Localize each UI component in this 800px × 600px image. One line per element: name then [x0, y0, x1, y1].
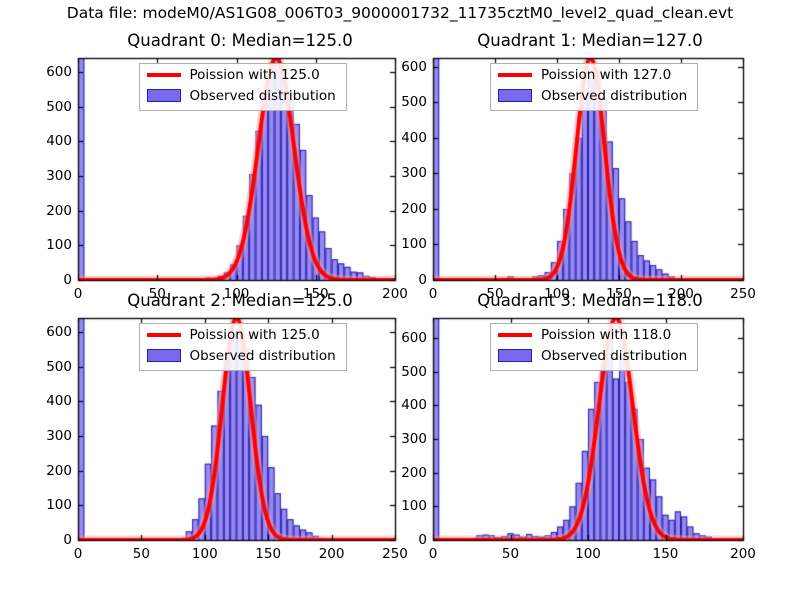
legend-label: Poission with 125.0: [190, 327, 320, 343]
xtick-label-quadrant-1-0: 0: [403, 286, 463, 302]
legend-quadrant-1[interactable]: Poission with 127.0Observed distribution: [490, 63, 698, 111]
subplot-title-quadrant-1: Quadrant 1: Median=127.0: [410, 31, 770, 50]
legend-entry-quadrant-3-0[interactable]: Poission with 118.0: [491, 324, 697, 345]
legend-line-icon: [147, 73, 181, 77]
ytick-label-quadrant-1-4: 400: [381, 130, 427, 146]
legend-patch-icon: [147, 349, 181, 362]
legend-line-swatch-icon: [146, 328, 182, 342]
legend-patch-swatch-icon: [497, 349, 533, 363]
ytick-label-quadrant-1-5: 500: [381, 94, 427, 110]
xtick-label-quadrant-0-3: 150: [286, 286, 346, 302]
xtick-label-quadrant-2-3: 150: [238, 546, 298, 562]
ytick-label-quadrant-2-0: 0: [26, 532, 72, 548]
legend-patch-icon: [498, 349, 532, 362]
legend-label: Observed distribution: [541, 88, 687, 104]
ytick-label-quadrant-1-6: 600: [381, 59, 427, 75]
ytick-label-quadrant-0-1: 100: [26, 237, 72, 253]
xtick-label-quadrant-3-1: 50: [481, 546, 541, 562]
legend-patch-swatch-icon: [497, 89, 533, 103]
ytick-label-quadrant-1-2: 200: [381, 201, 427, 217]
ytick-label-quadrant-3-0: 0: [381, 532, 427, 548]
ytick-label-quadrant-3-2: 200: [381, 465, 427, 481]
legend-patch-icon: [147, 89, 181, 102]
legend-patch-swatch-icon: [146, 349, 182, 363]
ytick-label-quadrant-0-0: 0: [26, 272, 72, 288]
xtick-label-quadrant-3-4: 200: [713, 546, 773, 562]
xtick-label-quadrant-3-0: 0: [403, 546, 463, 562]
legend-entry-quadrant-2-1[interactable]: Observed distribution: [140, 345, 346, 366]
ytick-label-quadrant-2-3: 300: [26, 428, 72, 444]
ytick-label-quadrant-3-3: 300: [381, 431, 427, 447]
legend-label: Observed distribution: [541, 348, 687, 364]
xtick-label-quadrant-1-3: 150: [589, 286, 649, 302]
ytick-label-quadrant-3-6: 600: [381, 330, 427, 346]
ytick-label-quadrant-3-5: 500: [381, 364, 427, 380]
ytick-label-quadrant-2-6: 600: [26, 324, 72, 340]
xtick-label-quadrant-0-1: 50: [127, 286, 187, 302]
legend-entry-quadrant-2-0[interactable]: Poission with 125.0: [140, 324, 346, 345]
ytick-label-quadrant-2-2: 200: [26, 463, 72, 479]
xtick-label-quadrant-1-2: 100: [527, 286, 587, 302]
subplot-title-quadrant-0: Quadrant 0: Median=125.0: [60, 31, 420, 50]
legend-line-swatch-icon: [497, 328, 533, 342]
ytick-label-quadrant-1-1: 100: [381, 236, 427, 252]
ytick-label-quadrant-2-5: 500: [26, 359, 72, 375]
ytick-label-quadrant-1-0: 0: [381, 272, 427, 288]
legend-quadrant-0[interactable]: Poission with 125.0Observed distribution: [139, 63, 347, 111]
legend-patch-icon: [498, 89, 532, 102]
legend-label: Poission with 127.0: [541, 67, 671, 83]
legend-label: Observed distribution: [190, 348, 336, 364]
xtick-label-quadrant-2-2: 100: [175, 546, 235, 562]
legend-label: Observed distribution: [190, 88, 336, 104]
ytick-label-quadrant-0-5: 500: [26, 99, 72, 115]
legend-line-swatch-icon: [497, 68, 533, 82]
legend-quadrant-3[interactable]: Poission with 118.0Observed distribution: [490, 323, 698, 371]
ytick-label-quadrant-1-3: 300: [381, 165, 427, 181]
xtick-label-quadrant-1-4: 200: [651, 286, 711, 302]
xtick-label-quadrant-0-0: 0: [48, 286, 108, 302]
ytick-label-quadrant-3-4: 400: [381, 397, 427, 413]
xtick-label-quadrant-2-0: 0: [48, 546, 108, 562]
xtick-label-quadrant-1-1: 50: [465, 286, 525, 302]
xtick-label-quadrant-3-3: 150: [636, 546, 696, 562]
figure-suptitle: Data file: modeM0/AS1G08_006T03_90000017…: [0, 4, 800, 22]
legend-entry-quadrant-0-1[interactable]: Observed distribution: [140, 85, 346, 106]
legend-entry-quadrant-3-1[interactable]: Observed distribution: [491, 345, 697, 366]
legend-entry-quadrant-0-0[interactable]: Poission with 125.0: [140, 64, 346, 85]
ytick-label-quadrant-2-4: 400: [26, 393, 72, 409]
xtick-label-quadrant-2-1: 50: [111, 546, 171, 562]
xtick-label-quadrant-0-2: 100: [207, 286, 267, 302]
legend-entry-quadrant-1-1[interactable]: Observed distribution: [491, 85, 697, 106]
legend-line-icon: [498, 73, 532, 77]
legend-label: Poission with 118.0: [541, 327, 671, 343]
legend-label: Poission with 125.0: [190, 67, 320, 83]
legend-quadrant-2[interactable]: Poission with 125.0Observed distribution: [139, 323, 347, 371]
legend-line-icon: [498, 333, 532, 337]
xtick-label-quadrant-3-2: 100: [558, 546, 618, 562]
ytick-label-quadrant-0-4: 400: [26, 133, 72, 149]
ytick-label-quadrant-0-3: 300: [26, 168, 72, 184]
ytick-label-quadrant-0-2: 200: [26, 203, 72, 219]
legend-entry-quadrant-1-0[interactable]: Poission with 127.0: [491, 64, 697, 85]
ytick-label-quadrant-3-1: 100: [381, 498, 427, 514]
legend-line-swatch-icon: [146, 68, 182, 82]
figure-canvas-container: Data file: modeM0/AS1G08_006T03_90000017…: [0, 0, 800, 600]
xtick-label-quadrant-2-4: 200: [302, 546, 362, 562]
ytick-label-quadrant-2-1: 100: [26, 497, 72, 513]
ytick-label-quadrant-0-6: 600: [26, 64, 72, 80]
legend-line-icon: [147, 333, 181, 337]
xtick-label-quadrant-1-5: 250: [713, 286, 773, 302]
legend-patch-swatch-icon: [146, 89, 182, 103]
